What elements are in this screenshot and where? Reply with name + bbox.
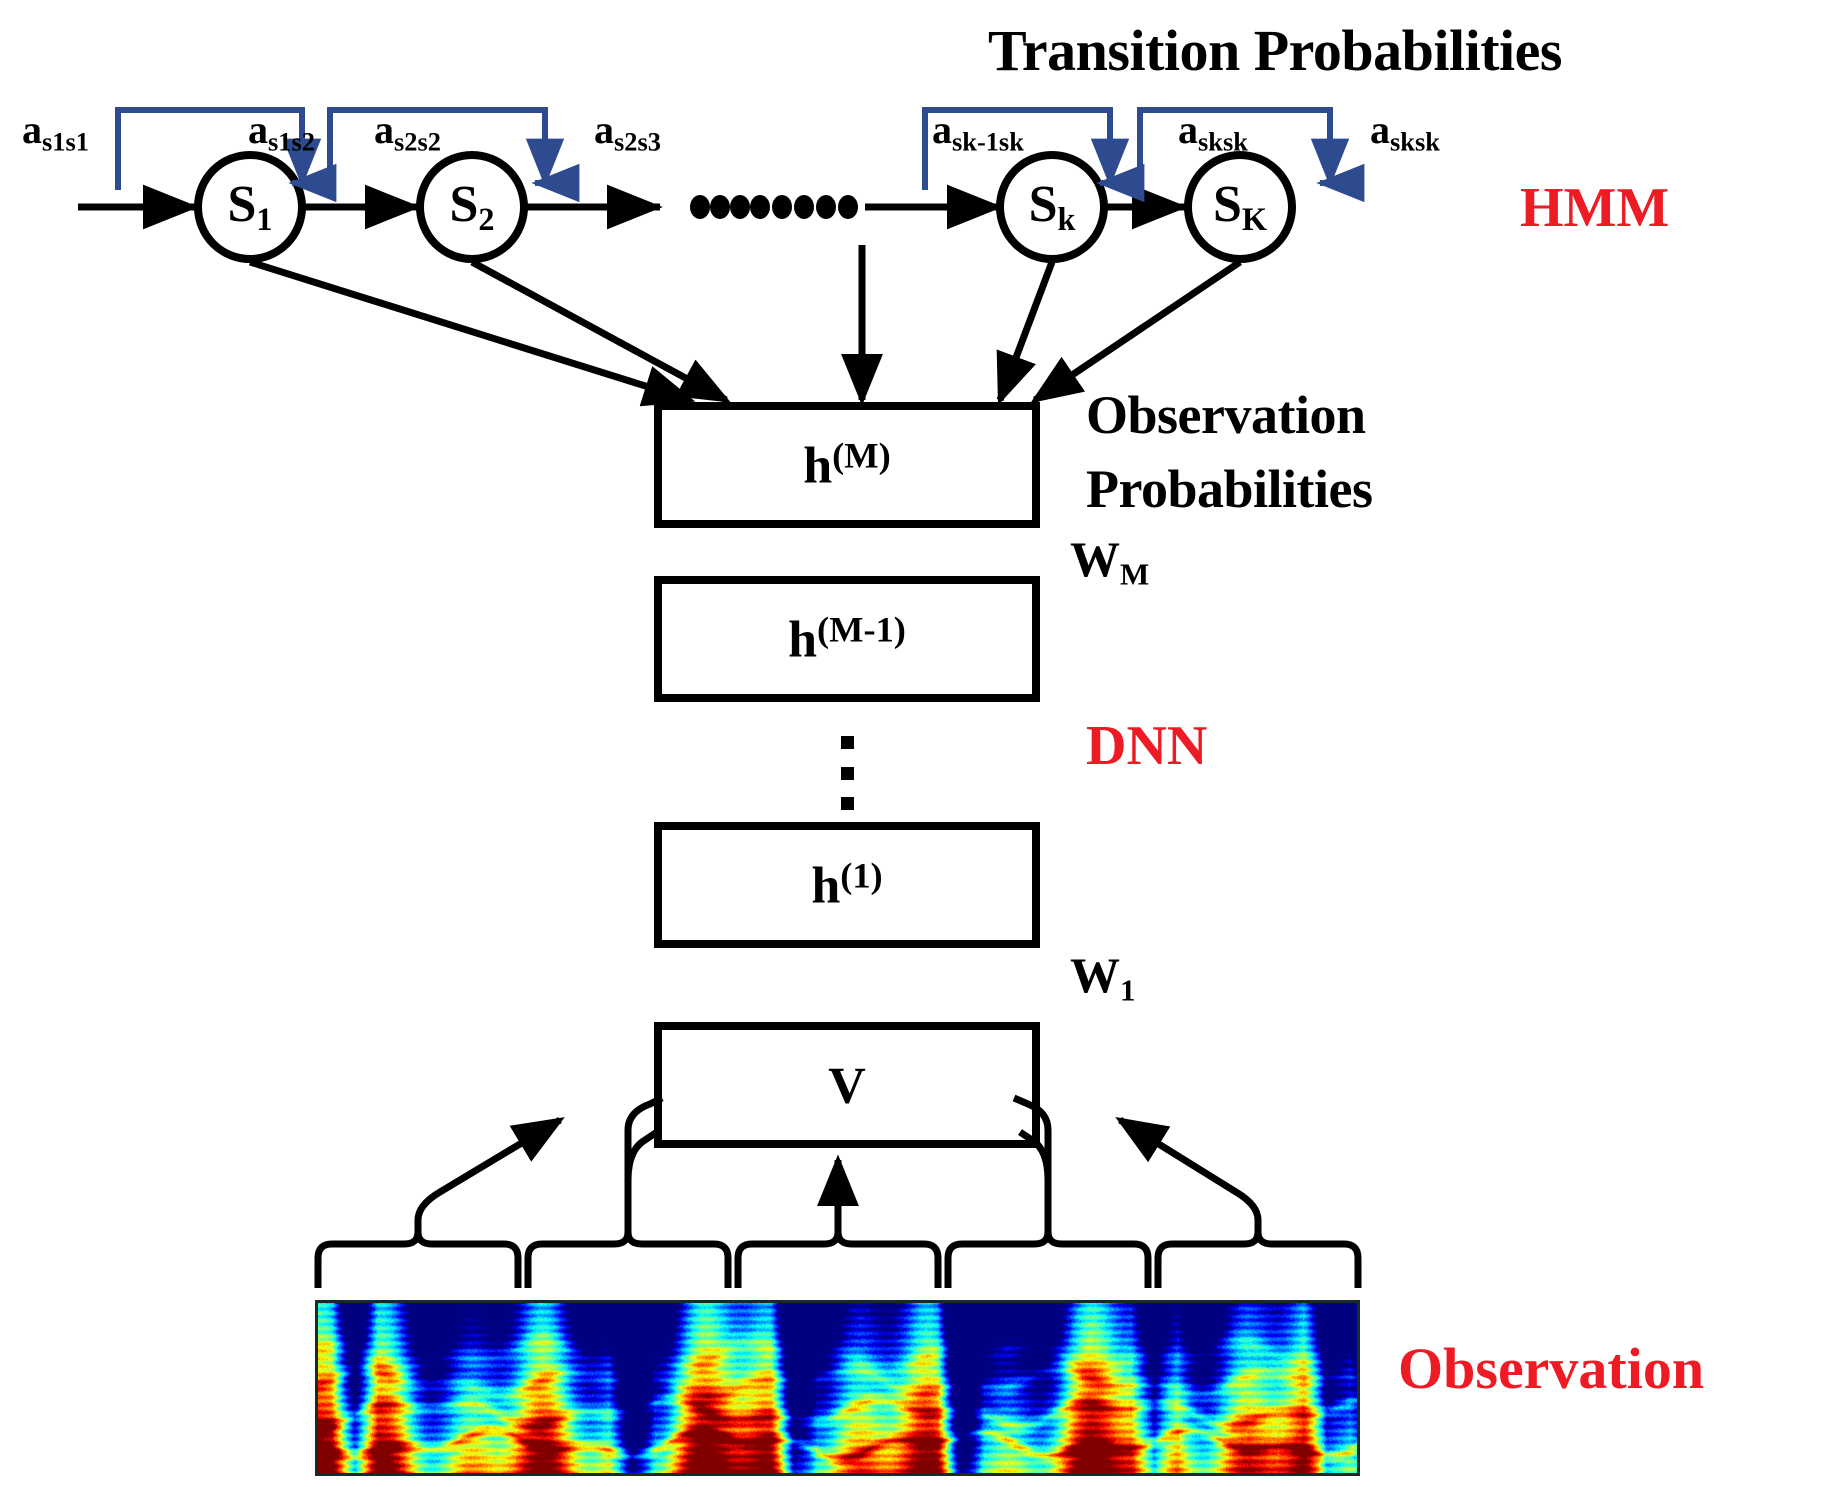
transition-label-0-sub: s1s1 xyxy=(42,126,89,156)
transition-label-4-base: a xyxy=(932,107,952,152)
brace-5 xyxy=(1158,1232,1358,1288)
transition-label-1-sub: s1s2 xyxy=(268,126,315,156)
state-label-s1-base: S xyxy=(227,176,256,233)
title-transition-probabilities: Transition Probabilities xyxy=(988,22,1562,80)
spectrogram-observation xyxy=(315,1300,1360,1476)
transition-label-1: as1s2 xyxy=(248,110,315,155)
state-label-s2: S2 xyxy=(449,179,494,235)
layer-label-h-M-1-sup: (M-1) xyxy=(817,609,906,649)
state-label-s1: S1 xyxy=(227,179,272,235)
layer-label-v-base: V xyxy=(828,1058,866,1115)
brace-1 xyxy=(318,1232,518,1288)
ellipsis-dot xyxy=(841,736,854,749)
state-label-s1-sub: 1 xyxy=(256,201,272,237)
weight-label-W-M: WM xyxy=(1070,534,1149,590)
spectrogram-canvas xyxy=(318,1303,1360,1476)
layer-label-h-1-base: h xyxy=(811,858,840,915)
transition-label-4-sub: sk-1sk xyxy=(952,126,1024,156)
transition-label-5: asksk xyxy=(1178,110,1248,155)
state-label-s2-sub: 2 xyxy=(478,201,494,237)
transition-label-2: as2s2 xyxy=(374,110,441,155)
annotation-observation: Observation xyxy=(1398,1340,1704,1398)
ellipsis-dot xyxy=(841,797,854,810)
title-observation-probabilities-line1: Observation xyxy=(1086,388,1366,442)
layer-label-h-M-sup: (M) xyxy=(832,435,891,475)
layer-label-h-1-sup: (1) xyxy=(840,855,882,895)
transition-label-3: as2s3 xyxy=(594,110,661,155)
brace-2 xyxy=(528,1232,728,1288)
layer-label-h-M: h(M) xyxy=(803,437,891,492)
layer-label-h-1: h(1) xyxy=(811,857,882,912)
weight-label-W-1-base: W xyxy=(1070,947,1120,1003)
obs-arrow-sK xyxy=(1035,262,1240,400)
obs-arrow-s1 xyxy=(250,262,690,400)
weight-label-W-M-base: W xyxy=(1070,531,1120,587)
transition-label-6-sub: sksk xyxy=(1390,126,1440,156)
ctx-connector-1 xyxy=(418,1120,560,1232)
hmm-ellipsis xyxy=(690,195,858,219)
state-label-sk-sub: k xyxy=(1057,201,1075,237)
weight-label-W-M-sub: M xyxy=(1120,557,1149,592)
layer-label-h-M-base: h xyxy=(803,438,832,495)
observation-arrows xyxy=(250,245,1240,400)
brace-3 xyxy=(738,1232,938,1288)
state-label-sK: SK xyxy=(1213,179,1267,235)
weight-label-W-1-sub: 1 xyxy=(1120,973,1136,1008)
figure-canvas: Transition Probabilities Observation Pro… xyxy=(0,0,1822,1487)
layer-vertical-ellipsis xyxy=(840,736,854,810)
layer-label-h-M-1-base: h xyxy=(788,612,817,669)
transition-label-2-sub: s2s2 xyxy=(394,126,441,156)
transition-label-5-base: a xyxy=(1178,107,1198,152)
annotation-dnn: DNN xyxy=(1086,718,1207,774)
weight-label-W-1: W1 xyxy=(1070,950,1136,1006)
obs-arrow-sk xyxy=(1000,262,1052,400)
transition-label-6-base: a xyxy=(1370,107,1390,152)
state-label-sK-sub: K xyxy=(1242,201,1267,237)
ctx-connector-5 xyxy=(1120,1120,1258,1232)
obs-arrow-s2 xyxy=(472,262,726,400)
state-label-s2-base: S xyxy=(449,176,478,233)
transition-label-6: asksk xyxy=(1370,110,1440,155)
state-label-sk: Sk xyxy=(1029,179,1076,235)
transition-label-5-sub: sksk xyxy=(1198,126,1248,156)
transition-label-4: ask-1sk xyxy=(932,110,1024,155)
layer-label-v: V xyxy=(828,1057,866,1112)
transition-label-2-base: a xyxy=(374,107,394,152)
state-label-sK-base: S xyxy=(1213,176,1242,233)
ellipsis-dot xyxy=(841,767,854,780)
transition-label-3-base: a xyxy=(594,107,614,152)
transition-label-1-base: a xyxy=(248,107,268,152)
transition-label-0-base: a xyxy=(22,107,42,152)
layer-label-h-M-1: h(M-1) xyxy=(788,611,906,666)
transition-label-0: as1s1 xyxy=(22,110,89,155)
title-observation-probabilities-line2: Probabilities xyxy=(1086,462,1373,516)
brace-4 xyxy=(948,1232,1148,1288)
transition-label-3-sub: s2s3 xyxy=(614,126,661,156)
annotation-hmm: HMM xyxy=(1520,180,1669,236)
state-label-sk-base: S xyxy=(1029,176,1058,233)
